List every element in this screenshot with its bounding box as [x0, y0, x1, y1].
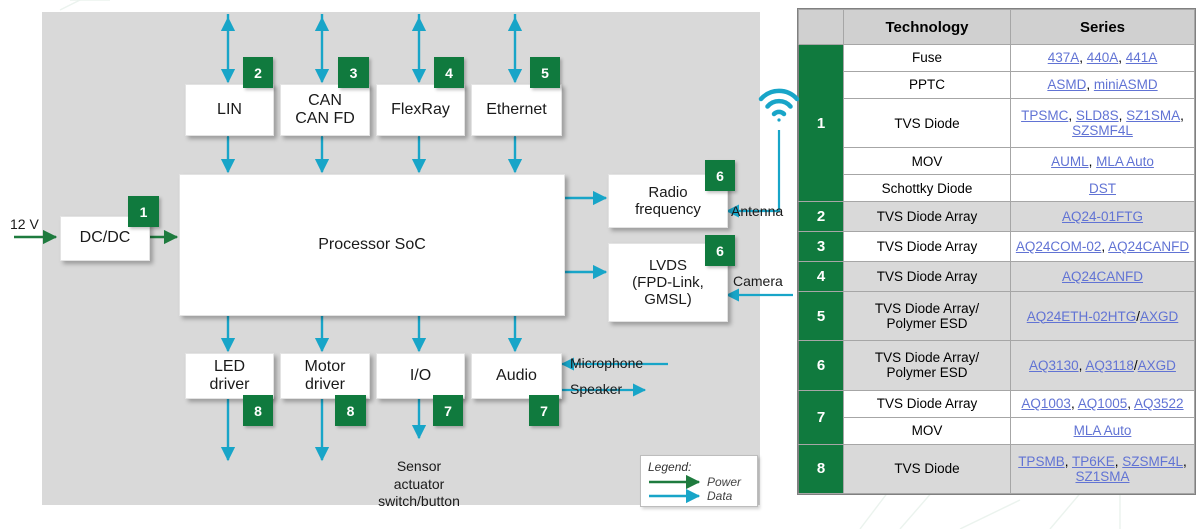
antenna-icon-layer [0, 0, 800, 529]
series-link[interactable]: miniASMD [1094, 77, 1158, 92]
row-index-cell: 1 [799, 45, 844, 202]
technology-cell: MOV [844, 148, 1011, 175]
label-microphone-text: Microphone [570, 355, 643, 371]
series-cell: TPSMB, TP6KE, SZSMF4L, SZ1SMA [1011, 444, 1195, 493]
table-row: 4TVS Diode ArrayAQ24CANFD [799, 261, 1195, 291]
technology-cell: TVS Diode Array [844, 390, 1011, 417]
technology-cell: TVS Diode Array/Polymer ESD [844, 291, 1011, 340]
series-cell: 437A, 440A, 441A [1011, 45, 1195, 72]
label-sensor-line1: Sensor [357, 458, 481, 476]
label-antenna-text: Antenna [731, 203, 783, 219]
series-cell: MLA Auto [1011, 417, 1195, 444]
series-link[interactable]: 441A [1126, 50, 1158, 65]
label-12v-text: 12 V [10, 216, 39, 232]
label-speaker-text: Speaker [570, 381, 622, 397]
series-separator: , [1089, 154, 1097, 169]
row-index-cell: 7 [799, 390, 844, 444]
series-cell: TPSMC, SLD8S, SZ1SMA, SZSMF4L [1011, 98, 1195, 147]
series-separator: , [1119, 108, 1127, 123]
series-link[interactable]: AQ1005 [1078, 396, 1128, 411]
table-row: 6TVS Diode Array/Polymer ESDAQ3130, AQ31… [799, 341, 1195, 390]
table-header-row: Technology Series [799, 10, 1195, 45]
series-link[interactable]: SZSMF4L [1072, 123, 1133, 138]
series-link[interactable]: AUML [1051, 154, 1089, 169]
series-cell: AQ24ETH-02HTG/AXGD [1011, 291, 1195, 340]
technology-cell: TVS Diode [844, 444, 1011, 493]
technology-cell: MOV [844, 417, 1011, 444]
header-index [799, 10, 844, 45]
header-technology: Technology [844, 10, 1011, 45]
technology-cell: Fuse [844, 45, 1011, 72]
series-cell: AUML, MLA Auto [1011, 148, 1195, 175]
label-speaker: Speaker [570, 381, 622, 397]
technology-cell: TVS Diode Array [844, 202, 1011, 232]
table-body: 1Fuse437A, 440A, 441APPTCASMD, miniASMDT… [799, 45, 1195, 494]
series-separator: , [1180, 108, 1184, 123]
series-separator: , [1068, 108, 1076, 123]
label-12v: 12 V [10, 216, 39, 232]
label-sensor-actuator: Sensor actuator switch/button [357, 458, 481, 511]
series-link[interactable]: AQ3522 [1134, 396, 1184, 411]
series-cell: AQ24COM-02, AQ24CANFD [1011, 232, 1195, 262]
series-separator: , [1071, 396, 1078, 411]
table-row: 1Fuse437A, 440A, 441A [799, 45, 1195, 72]
technology-cell: Schottky Diode [844, 175, 1011, 202]
label-antenna: Antenna [731, 203, 783, 219]
series-cell: AQ24-01FTG [1011, 202, 1195, 232]
series-link[interactable]: AXGD [1138, 358, 1176, 373]
series-cell: ASMD, miniASMD [1011, 71, 1195, 98]
table-row: 2TVS Diode ArrayAQ24-01FTG [799, 202, 1195, 232]
label-sensor-line3: switch/button [357, 493, 481, 511]
series-link[interactable]: AXGD [1140, 309, 1178, 324]
legend-power-label: Power [707, 475, 741, 489]
label-camera: Camera [733, 273, 783, 289]
series-link[interactable]: 437A [1048, 50, 1080, 65]
technology-series-table: Technology Series 1Fuse437A, 440A, 441AP… [797, 8, 1196, 495]
series-separator: , [1118, 50, 1126, 65]
series-link[interactable]: DST [1089, 181, 1116, 196]
header-series: Series [1011, 10, 1195, 45]
technology-cell: TVS Diode [844, 98, 1011, 147]
block-diagram: DC/DC 1 LIN 2 CAN CAN FD 3 FlexRay 4 Eth… [0, 0, 800, 529]
table-row: 5TVS Diode Array/Polymer ESDAQ24ETH-02HT… [799, 291, 1195, 340]
technology-cell: PPTC [844, 71, 1011, 98]
series-link[interactable]: AQ24ETH-02HTG [1027, 309, 1137, 324]
series-separator: , [1065, 454, 1072, 469]
series-link[interactable]: SZSMF4L [1122, 454, 1183, 469]
series-link[interactable]: SZ1SMA [1126, 108, 1180, 123]
series-link[interactable]: AQ24CANFD [1108, 239, 1189, 254]
label-camera-text: Camera [733, 273, 783, 289]
series-link[interactable]: AQ24-01FTG [1062, 209, 1143, 224]
series-link[interactable]: AQ24COM-02 [1016, 239, 1102, 254]
series-link[interactable]: MLA Auto [1074, 423, 1132, 438]
series-link[interactable]: MLA Auto [1096, 154, 1154, 169]
series-link[interactable]: TP6KE [1072, 454, 1115, 469]
table-row: PPTCASMD, miniASMD [799, 71, 1195, 98]
row-index-cell: 6 [799, 341, 844, 390]
series-separator: , [1079, 50, 1087, 65]
label-sensor-line2: actuator [357, 476, 481, 494]
table-row: 3TVS Diode ArrayAQ24COM-02, AQ24CANFD [799, 232, 1195, 262]
series-link[interactable]: AQ3118 [1085, 358, 1134, 373]
technology-cell: TVS Diode Array [844, 232, 1011, 262]
series-cell: AQ24CANFD [1011, 261, 1195, 291]
series-cell: AQ3130, AQ3118/AXGD [1011, 341, 1195, 390]
table-row: MOVMLA Auto [799, 417, 1195, 444]
series-cell: AQ1003, AQ1005, AQ3522 [1011, 390, 1195, 417]
series-link[interactable]: SLD8S [1076, 108, 1119, 123]
table-row: TVS DiodeTPSMC, SLD8S, SZ1SMA, SZSMF4L [799, 98, 1195, 147]
series-link[interactable]: 440A [1087, 50, 1119, 65]
row-index-cell: 3 [799, 232, 844, 262]
series-link[interactable]: AQ1003 [1021, 396, 1071, 411]
series-link[interactable]: AQ24CANFD [1062, 269, 1143, 284]
series-link[interactable]: TPSMC [1021, 108, 1068, 123]
series-link[interactable]: AQ3130 [1029, 358, 1079, 373]
row-index-cell: 2 [799, 202, 844, 232]
wifi-antenna-icon [761, 91, 797, 122]
table-row: Schottky DiodeDST [799, 175, 1195, 202]
table-row: 8TVS DiodeTPSMB, TP6KE, SZSMF4L, SZ1SMA [799, 444, 1195, 493]
technology-cell: TVS Diode Array [844, 261, 1011, 291]
legend-box: Legend: Power Data [640, 455, 758, 507]
series-cell: DST [1011, 175, 1195, 202]
series-link[interactable]: ASMD [1047, 77, 1086, 92]
series-link[interactable]: TPSMB [1018, 454, 1065, 469]
table-row: MOVAUML, MLA Auto [799, 148, 1195, 175]
row-index-cell: 5 [799, 291, 844, 340]
row-index-cell: 8 [799, 444, 844, 493]
series-link[interactable]: SZ1SMA [1075, 469, 1129, 484]
table-row: 7TVS Diode ArrayAQ1003, AQ1005, AQ3522 [799, 390, 1195, 417]
series-separator: , [1183, 454, 1187, 469]
series-separator: , [1086, 77, 1094, 92]
row-index-cell: 4 [799, 261, 844, 291]
technology-cell: TVS Diode Array/Polymer ESD [844, 341, 1011, 390]
legend-data-label: Data [707, 489, 732, 503]
table-element: Technology Series 1Fuse437A, 440A, 441AP… [798, 9, 1195, 494]
label-microphone: Microphone [570, 355, 643, 371]
